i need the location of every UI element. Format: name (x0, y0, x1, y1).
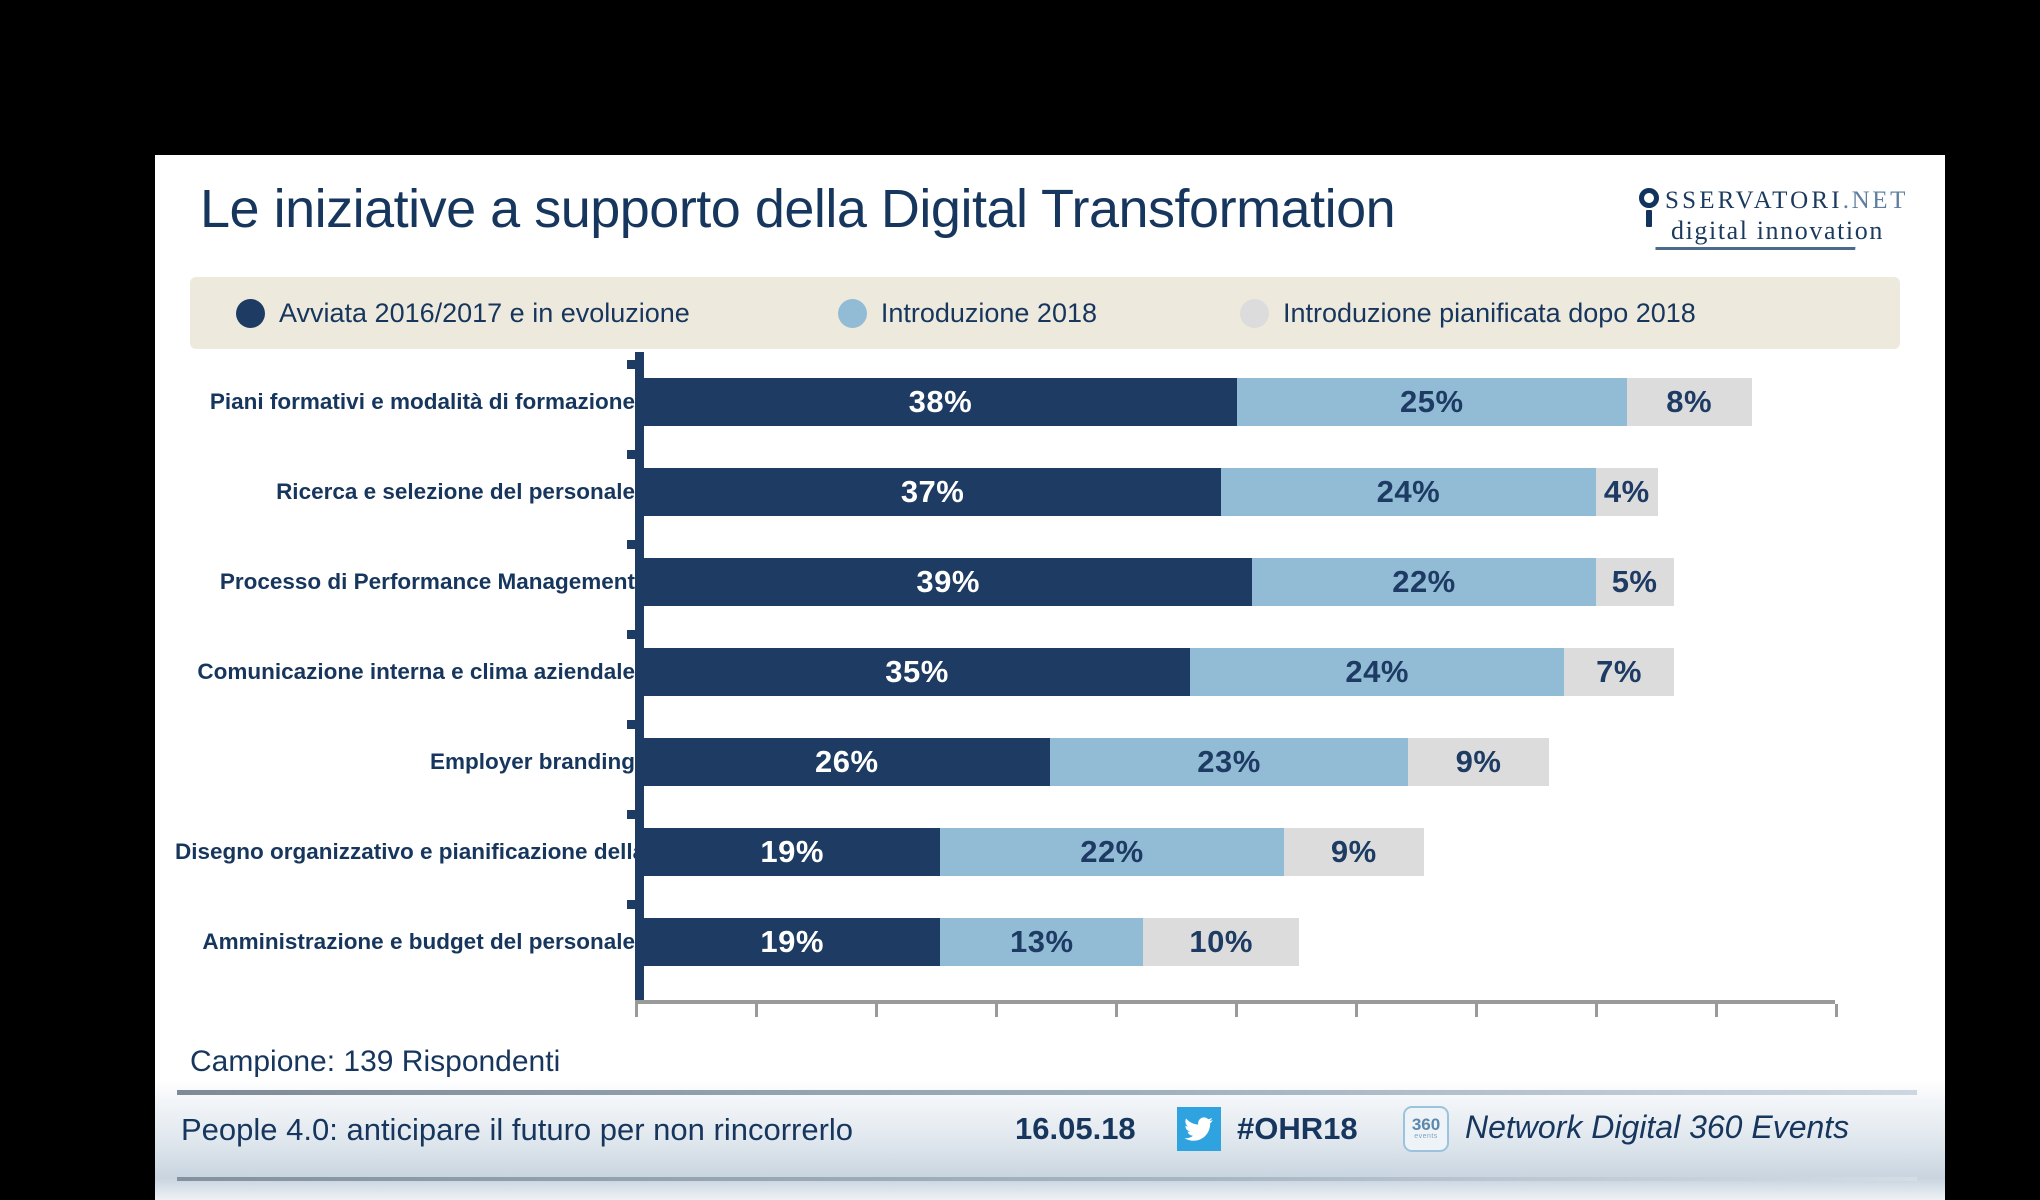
y-axis-tick (627, 540, 636, 549)
title-row: Le iniziative a supporto della Digital T… (155, 155, 1945, 270)
footer-divider-bottom (177, 1177, 1917, 1181)
bar-segment: 23% (1050, 738, 1409, 786)
footer-network-label: Network Digital 360 Events (1465, 1109, 1849, 1146)
logo-line-1: SSERVATORI.NET (1665, 187, 1908, 215)
bar-segment: 5% (1596, 558, 1674, 606)
x-axis-tick (1595, 1004, 1598, 1017)
legend-swatch-icon-1 (838, 299, 867, 328)
bar-row: 37%24%4% (644, 468, 1844, 516)
bar-segment: 38% (644, 378, 1237, 426)
bar-segment: 7% (1564, 648, 1673, 696)
bar-row: 26%23%9% (644, 738, 1844, 786)
bar-segment: 19% (644, 918, 940, 966)
presentation-slide: Le iniziative a supporto della Digital T… (155, 155, 1945, 1200)
chart-legend: Avviata 2016/2017 e in evoluzione Introd… (190, 277, 1900, 349)
category-label: Comunicazione interna e clima aziendale (175, 659, 635, 685)
bar-segment: 37% (644, 468, 1221, 516)
x-axis-tick (1115, 1004, 1118, 1017)
category-label: Processo di Performance Management (175, 569, 635, 595)
network-icon-main-text: 360 (1412, 1117, 1440, 1133)
magnifier-icon (1639, 188, 1663, 228)
bar-segment: 9% (1284, 828, 1424, 876)
bar-segment: 19% (644, 828, 940, 876)
osservatori-logo: SSERVATORI.NET digital innovation (1635, 175, 1905, 261)
x-axis-tick (875, 1004, 878, 1017)
network-icon-sub-text: events (1414, 1133, 1438, 1141)
category-label: Disegno organizzativo e pianificazione d… (175, 839, 635, 865)
footer-date: 16.05.18 (1015, 1111, 1136, 1147)
x-axis-tick (635, 1004, 638, 1017)
legend-swatch-icon-2 (1240, 299, 1269, 328)
bar-segment: 22% (1252, 558, 1595, 606)
legend-item-avviata[interactable]: Avviata 2016/2017 e in evoluzione (236, 298, 690, 329)
category-label: Employer branding (175, 749, 635, 775)
bar-row: 39%22%5% (644, 558, 1844, 606)
stacked-bar-chart: Piani formativi e modalità di formazione… (155, 360, 1945, 1030)
y-axis-tick (627, 720, 636, 729)
bar-segment: 22% (940, 828, 1283, 876)
y-axis-tick (627, 450, 636, 459)
sample-note: Campione: 139 Rispondenti (190, 1045, 560, 1079)
twitter-bird-icon[interactable] (1177, 1107, 1221, 1151)
legend-swatch-icon-0 (236, 299, 265, 328)
x-axis-tick (1715, 1004, 1718, 1017)
y-axis-tick (627, 630, 636, 639)
slide-stage: Le iniziative a supporto della Digital T… (0, 0, 2040, 1200)
legend-label-0: Avviata 2016/2017 e in evoluzione (279, 298, 690, 329)
bar-segment: 24% (1221, 468, 1595, 516)
bar-segment: 10% (1143, 918, 1299, 966)
y-axis-tick (627, 360, 636, 369)
x-axis-tick (1355, 1004, 1358, 1017)
bar-segment: 9% (1408, 738, 1548, 786)
y-axis-tick (627, 900, 636, 909)
bar-segment: 24% (1190, 648, 1564, 696)
category-label: Ricerca e selezione del personale (175, 479, 635, 505)
category-label: Piani formativi e modalità di formazione (175, 389, 635, 415)
footer-divider-top (177, 1090, 1917, 1095)
category-axis-labels: Piani formativi e modalità di formazione… (175, 360, 635, 1000)
y-axis-tick (627, 810, 636, 819)
bar-segment: 25% (1237, 378, 1627, 426)
page-title: Le iniziative a supporto della Digital T… (200, 177, 1395, 241)
slide-footer: People 4.0: anticipare il futuro per non… (155, 1080, 1945, 1200)
logo-swoosh (1655, 247, 1856, 261)
x-axis-tick (1475, 1004, 1478, 1017)
legend-item-introduzione-2018[interactable]: Introduzione 2018 (838, 298, 1097, 329)
bar-segment: 26% (644, 738, 1050, 786)
bar-row: 35%24%7% (644, 648, 1844, 696)
category-label: Amministrazione e budget del personale (175, 929, 635, 955)
x-axis-tick (1835, 1004, 1838, 1017)
y-axis-line (635, 352, 644, 1000)
x-axis-tick (1235, 1004, 1238, 1017)
logo-tld-text: .NET (1843, 187, 1908, 214)
bar-segment: 39% (644, 558, 1252, 606)
bar-segment: 8% (1627, 378, 1752, 426)
bar-row: 38%25%8% (644, 378, 1844, 426)
x-axis-tick (995, 1004, 998, 1017)
x-axis-tick (755, 1004, 758, 1017)
logo-main-text: SSERVATORI (1665, 187, 1843, 214)
bar-row: 19%22%9% (644, 828, 1844, 876)
network-digital-360-icon: 360 events (1403, 1106, 1449, 1152)
bar-row: 19%13%10% (644, 918, 1844, 966)
legend-label-1: Introduzione 2018 (881, 298, 1097, 329)
bar-segment: 13% (940, 918, 1143, 966)
bar-segment: 35% (644, 648, 1190, 696)
bar-segment: 4% (1596, 468, 1658, 516)
legend-label-2: Introduzione pianificata dopo 2018 (1283, 298, 1696, 329)
plot-area: 38%25%8%37%24%4%39%22%5%35%24%7%26%23%9%… (635, 360, 1835, 1000)
footer-hashtag: #OHR18 (1237, 1111, 1358, 1147)
legend-item-introduzione-dopo-2018[interactable]: Introduzione pianificata dopo 2018 (1240, 298, 1696, 329)
logo-line-2: digital innovation (1671, 216, 1884, 246)
footer-event-title: People 4.0: anticipare il futuro per non… (181, 1112, 853, 1148)
